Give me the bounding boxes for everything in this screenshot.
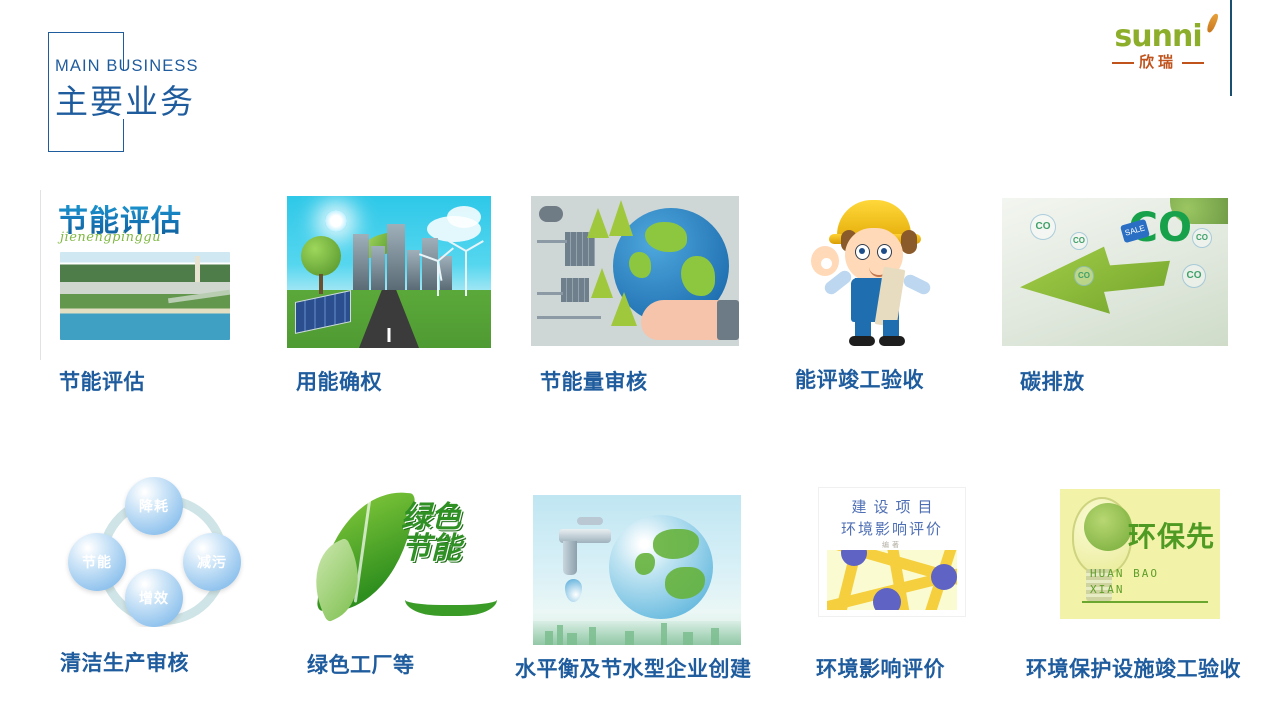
tower-shape (195, 256, 200, 282)
hair-shape (901, 230, 917, 254)
leaf-logo-line2: 节能 (401, 534, 461, 565)
city-silhouette (683, 632, 693, 645)
poster-chinese-text: 环保先 (1128, 515, 1215, 555)
swoosh-arrow-icon (405, 575, 497, 616)
green-leaf-energy-saving-logo: 绿色 节能 (305, 481, 505, 631)
co2-bubble: CO (1192, 228, 1212, 248)
business-card-energy-rights[interactable]: 用能确权 (287, 196, 491, 348)
card-label: 用能确权 (296, 366, 382, 396)
card-label: 绿色工厂等 (307, 649, 415, 679)
road-marking (388, 328, 391, 342)
building (371, 246, 385, 290)
leaf-logo-text: 绿色 节能 (401, 503, 461, 564)
globe-in-hand-illustration (531, 196, 739, 346)
business-card-green-factory[interactable]: 绿色 节能 绿色工厂等 (305, 481, 505, 631)
card-label: 环境保护设施竣工验收 (1026, 653, 1241, 683)
card-label: 环境影响评价 (816, 653, 945, 683)
leaf-logo-line1: 绿色 (401, 503, 461, 534)
cycle-node-right: 减污 (183, 533, 241, 591)
cloud-shape (447, 206, 481, 228)
shoe-shape (849, 336, 875, 346)
title-english: MAIN BUSINESS (55, 58, 515, 75)
card-label: 清洁生产审核 (60, 647, 189, 677)
poster-pinyin-line2: XIAN (1090, 583, 1125, 596)
solar-panel-icon (295, 290, 351, 334)
city-silhouette (711, 628, 719, 645)
pipe-line (537, 316, 601, 319)
tree-shape (587, 208, 609, 238)
energy-saving-assessment-poster: 节能评估 jienengpinggu (50, 190, 238, 348)
book-byline: 编著 (819, 540, 965, 550)
poster-pinyin: jienengpinggu (60, 230, 161, 245)
globe-shape (609, 515, 713, 619)
poster-pinyin-line1: HUAN BAO (1090, 567, 1159, 580)
overall-strap (855, 278, 862, 294)
green-city-road-illustration (287, 196, 491, 348)
tank-icon (539, 206, 563, 222)
logo-wordmark: sunni (1098, 22, 1218, 52)
tree-shape (591, 268, 613, 298)
blue-circle (931, 564, 957, 590)
cycle-node-top: 降耗 (125, 477, 183, 535)
city-silhouette (545, 631, 553, 645)
city-silhouette (557, 625, 563, 645)
tree-trunk (319, 274, 323, 294)
card-label: 碳排放 (1020, 366, 1085, 396)
city-silhouette (589, 627, 596, 645)
city-silhouette (567, 633, 577, 645)
globe-inside-bulb (1084, 503, 1132, 551)
title-chinese: 主要业务 (55, 82, 515, 122)
building (407, 250, 420, 290)
tree-shape (609, 200, 633, 236)
cycle-node-bottom: 增效 (125, 569, 183, 627)
building (353, 234, 369, 290)
logo-chinese: 欣瑞 (1139, 55, 1177, 70)
blue-circle (841, 550, 867, 566)
tree-canopy (301, 236, 341, 276)
pipe-line (537, 240, 567, 243)
green-arrow-icon (1020, 242, 1170, 320)
business-card-completion-acceptance[interactable]: 能评竣工验收 (795, 194, 955, 346)
card-label: 节能评估 (59, 366, 145, 396)
faucet-valve (577, 517, 603, 525)
green-arrow-co2-photo: CO SALE CO CO CO CO CO (1002, 198, 1228, 346)
sleeve-cuff (717, 300, 739, 340)
business-card-cleaner-production[interactable]: 降耗 节能 减污 增效 清洁生产审核 (52, 477, 258, 627)
sun-icon (325, 210, 347, 232)
blue-circle (873, 588, 901, 610)
city-silhouette (625, 631, 634, 645)
business-card-water-balance[interactable]: 水平衡及节水型企业创建 (533, 495, 741, 645)
co2-bubble: CO (1182, 264, 1206, 288)
card-label: 水平衡及节水型企业创建 (515, 653, 752, 683)
pupil-shape (859, 248, 865, 254)
ok-gesture-hole (819, 256, 834, 271)
co2-bubble: CO (1030, 214, 1056, 240)
logo-dash-right (1182, 62, 1204, 64)
card-label: 能评竣工验收 (795, 364, 924, 394)
building (387, 224, 405, 290)
ground-band (533, 621, 741, 645)
poster-rule (1082, 601, 1208, 603)
co2-bubble: CO (1070, 232, 1088, 250)
page-title: MAIN BUSINESS 主要业务 (55, 58, 515, 122)
eia-book-cover: 建设项目 环境影响评价 编著 (818, 487, 966, 617)
business-card-carbon-emission[interactable]: CO SALE CO CO CO CO CO 碳排放 (1002, 198, 1228, 346)
right-arm (902, 273, 933, 297)
book-title-line2: 环境影响评价 (819, 518, 965, 539)
card-label: 节能量审核 (540, 366, 648, 396)
logo-dash-left (1112, 62, 1134, 64)
city-silhouette (661, 623, 667, 645)
solar-panel-icon (561, 278, 589, 302)
cleaner-production-cycle-diagram: 降耗 节能 减污 增效 (52, 477, 258, 627)
book-title-line1: 建设项目 (819, 496, 965, 517)
co2-bubble: CO (1074, 266, 1094, 286)
wind-turbine (437, 260, 439, 296)
business-card-energy-assessment[interactable]: 节能评估 jienengpinggu 节能评估 (50, 190, 238, 348)
wind-turbine (465, 250, 467, 296)
logo-chinese-row: 欣瑞 (1098, 55, 1218, 70)
faucet-globe-water-drop-illustration (533, 495, 741, 645)
business-card-eia[interactable]: 建设项目 环境影响评价 编著 环境影响评价 (818, 487, 966, 617)
company-logo: sunni 欣瑞 (1098, 22, 1218, 80)
lightbulb-icon (1072, 497, 1132, 575)
environmental-protection-bulb-poster: 环保先 HUAN BAO XIAN (1060, 489, 1220, 619)
pupil-shape (881, 248, 887, 254)
cycle-node-left: 节能 (68, 533, 126, 591)
building (440, 256, 452, 290)
shoe-shape (879, 336, 905, 346)
slide-root: MAIN BUSINESS 主要业务 sunni 欣瑞 节能评估 jieneng… (0, 0, 1280, 720)
business-card-energy-saving-audit[interactable]: 节能量审核 (531, 196, 739, 346)
faucet-spout (563, 541, 577, 575)
construction-worker-ok-illustration (795, 194, 955, 346)
card-divider (40, 190, 41, 360)
water-drop-icon (565, 579, 582, 602)
continent-shape (629, 252, 651, 278)
business-card-env-facility-acceptance[interactable]: 环保先 HUAN BAO XIAN 环境保护设施竣工验收 (1060, 489, 1220, 619)
header-vertical-rule (1230, 0, 1232, 96)
book-cover-artwork (827, 550, 957, 610)
pipe-line (537, 292, 563, 295)
building (422, 238, 438, 290)
